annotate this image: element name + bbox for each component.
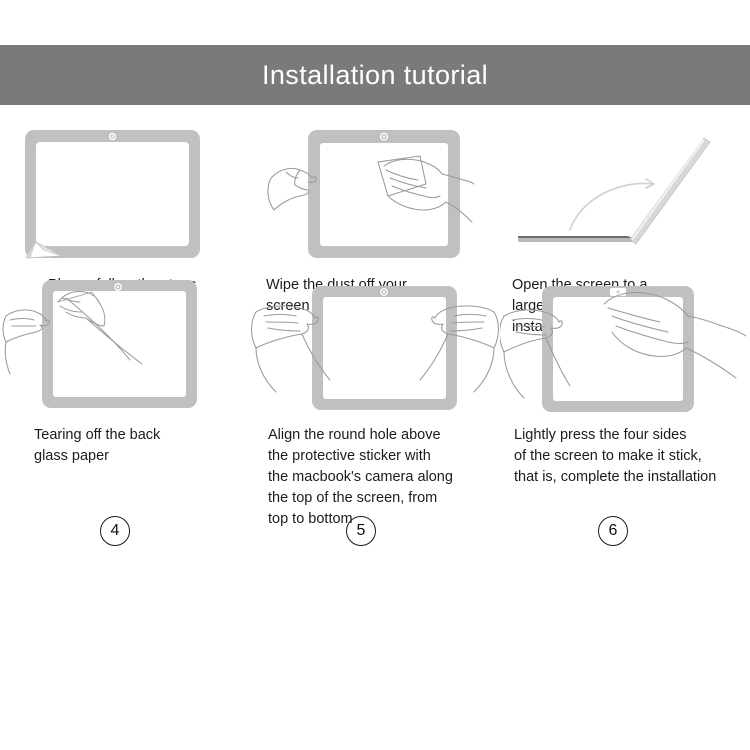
step-card-4: Tearing off the back glass paper 4 — [0, 268, 250, 418]
steps-grid: Please follow the steps below to install… — [0, 118, 750, 418]
step-card-6: Lightly press the four sides of the scre… — [500, 268, 750, 418]
step-caption-5: Align the round hole above the protectiv… — [268, 425, 500, 530]
tablet-with-peeling-corner-icon — [0, 118, 250, 268]
tablet-wipe-with-cloth-icon — [250, 118, 500, 268]
step-badge-6: 6 — [598, 516, 628, 546]
step-caption-6: Lightly press the four sides of the scre… — [514, 425, 750, 488]
step-card-2: Wipe the dust off your screen with a clo… — [250, 118, 500, 268]
laptop-open-angle-icon — [500, 118, 750, 268]
step-card-3: Open the screen to a larger angle to fac… — [500, 118, 750, 268]
step-caption-4: Tearing off the back glass paper — [34, 425, 250, 467]
tablet-peel-back-paper-icon — [0, 268, 250, 418]
tablet-press-sides-icon — [500, 268, 750, 418]
step-card-5: Align the round hole above the protectiv… — [250, 268, 500, 418]
step-card-1: Please follow the steps below to install… — [0, 118, 250, 268]
tablet-two-hands-align-icon — [250, 268, 500, 418]
step-badge-4: 4 — [100, 516, 130, 546]
page-title: Installation tutorial — [262, 62, 488, 89]
header-banner: Installation tutorial — [0, 45, 750, 105]
step-badge-5: 5 — [346, 516, 376, 546]
